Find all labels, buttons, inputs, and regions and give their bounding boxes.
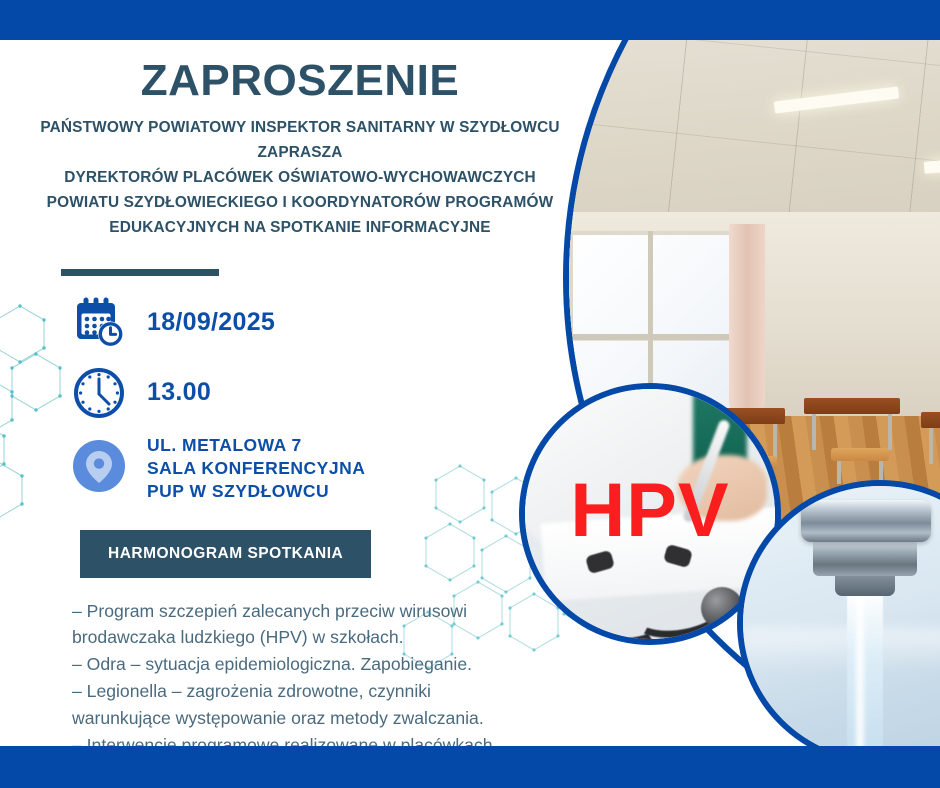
agenda-item-3: – Legionella – zagrożenia zdrowotne, czy… (72, 678, 528, 732)
subtitle-line-3: DYREKTORÓW PLACÓWEK OŚWIATOWO-WYCHOWAWCZ… (22, 166, 578, 191)
invitation-poster: HPV ZAPROSZENIE PAŃSTWOWY POWIATOWY INSP… (0, 0, 940, 788)
location-pin-icon (70, 437, 128, 495)
event-details: 18/09/2025 (0, 294, 600, 504)
poster-content: ZAPROSZENIE PAŃSTWOWY POWIATOWY INSPEKTO… (0, 40, 600, 786)
location-line-2: SALA KONFERENCYJNA (147, 457, 365, 480)
bottom-blue-bar (0, 746, 940, 788)
agenda-item-1: – Program szczepień zalecanych przeciw w… (72, 598, 528, 652)
event-date-row: 18/09/2025 (70, 294, 600, 352)
clock-icon (70, 364, 128, 422)
page-title: ZAPROSZENIE (0, 40, 600, 106)
top-blue-bar (0, 0, 940, 40)
event-time-value: 13.00 (147, 378, 211, 407)
subtitle-line-5: EDUKACYJNYCH NA SPOTKANIE INFORMACYJNE (22, 216, 578, 241)
water-tap-photo (737, 480, 940, 766)
location-line-1: UL. METALOWA 7 (147, 434, 365, 457)
agenda-badge: HARMONOGRAM SPOTKANIA (80, 530, 371, 578)
event-time-row: 13.00 (70, 364, 600, 422)
event-date-value: 18/09/2025 (147, 308, 275, 337)
location-line-3: PUP W SZYDŁOWCU (147, 480, 365, 503)
agenda-item-2: – Odra – sytuacja epidemiologiczna. Zapo… (72, 651, 528, 678)
event-location-row: UL. METALOWA 7 SALA KONFERENCYJNA PUP W … (70, 434, 600, 504)
event-location-value: UL. METALOWA 7 SALA KONFERENCYJNA PUP W … (147, 434, 365, 504)
subtitle-line-1: PAŃSTWOWY POWIATOWY INSPEKTOR SANITARNY … (22, 116, 578, 141)
calendar-clock-icon (70, 294, 128, 352)
invitation-subtitle: PAŃSTWOWY POWIATOWY INSPEKTOR SANITARNY … (22, 116, 578, 241)
subtitle-line-4: POWIATU SZYDŁOWIECKIEGO I KOORDYNATORÓW … (22, 191, 578, 216)
subtitle-line-2: ZAPRASZA (22, 141, 578, 166)
section-divider (61, 269, 219, 276)
